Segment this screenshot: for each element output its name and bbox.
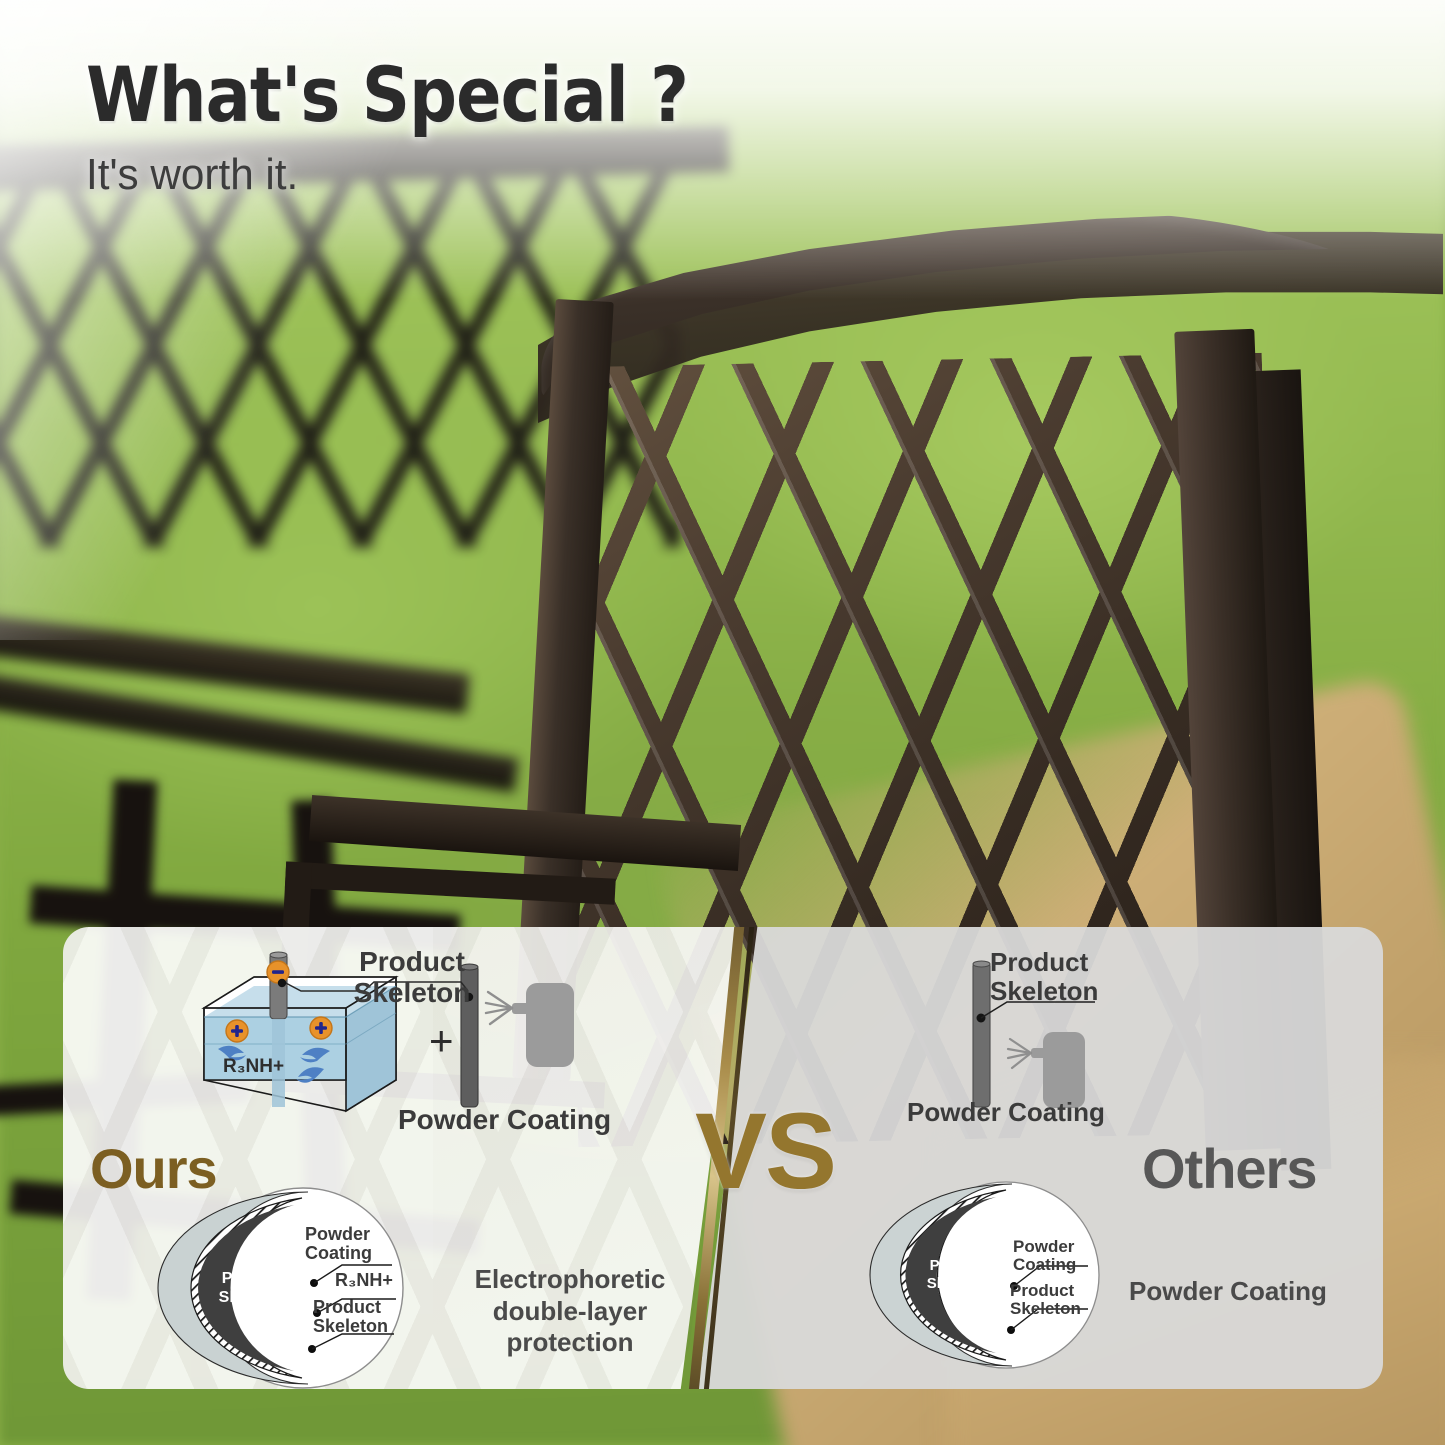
svg-text:Product: Product [930, 1257, 987, 1274]
others-layer-label-skeleton: Product Skeleton [1010, 1282, 1081, 1318]
ours-description: Electrophoretic double-layer protection [438, 1264, 702, 1359]
others-brand-label: Others [1142, 1136, 1317, 1201]
ours-skeleton-label-line1: Product [332, 946, 492, 977]
page-subtitle: It's worth it. [86, 150, 950, 200]
others-description: Powder Coating [1108, 1276, 1348, 1307]
svg-text:Skeleton: Skeleton [219, 1289, 286, 1306]
tank-chemical-label: R₃NH+ [223, 1056, 284, 1077]
others-powder-coating-label: Powder Coating [907, 1098, 1105, 1127]
others-skeleton-label: Product Skeleton [990, 948, 1098, 1005]
others-cross-section: Product Skeleton [908, 1178, 1104, 1372]
svg-text:Skeleton: Skeleton [927, 1275, 990, 1292]
ours-description-line1: Electrophoretic [438, 1264, 702, 1296]
svg-text:Product: Product [222, 1270, 283, 1287]
ours-description-line2: double-layer protection [438, 1296, 702, 1359]
others-layer-label-powder: Powder Coating [1013, 1238, 1076, 1274]
plus-operator: + [429, 1017, 454, 1064]
ours-skeleton-label-line2: Skeleton [332, 977, 492, 1008]
others-skeleton-label-line2: Skeleton [990, 977, 1098, 1006]
ours-brand-label: Ours [90, 1136, 217, 1201]
vs-label: VS [665, 1088, 865, 1213]
ours-layer-label-electro: R₃NH+ [335, 1270, 393, 1290]
ours-layer-label-powder: Powder Coating [305, 1225, 372, 1264]
ours-powder-coating-label: Powder Coating [398, 1104, 611, 1135]
headline-block: What's Special ? It's worth it. [86, 56, 986, 200]
ours-layer-label-skeleton: Product Skeleton [313, 1298, 388, 1337]
others-skeleton-label-line1: Product [990, 948, 1098, 977]
page-title: What's Special ? [86, 56, 878, 134]
product-feature-image: What's Special ? It's worth it. [0, 0, 1445, 1445]
ours-skeleton-label: Product Skeleton [332, 946, 492, 1009]
